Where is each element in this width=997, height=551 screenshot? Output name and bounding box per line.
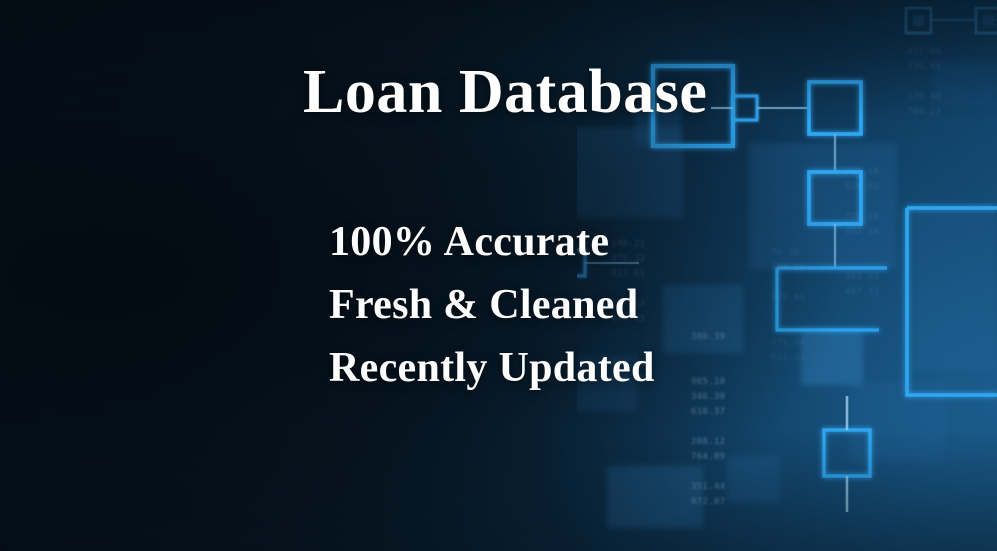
promo-banner: 734.16 818.41 409.65 201.5 183.06 303.07… <box>0 0 997 551</box>
page-title: Loan Database <box>303 57 707 128</box>
feature-item-freshness: Fresh & Cleaned <box>329 284 655 326</box>
feature-item-updated: Recently Updated <box>329 347 655 389</box>
feature-item-accuracy: 100% Accurate <box>329 221 655 263</box>
feature-list: 100% Accurate Fresh & Cleaned Recently U… <box>329 221 655 389</box>
